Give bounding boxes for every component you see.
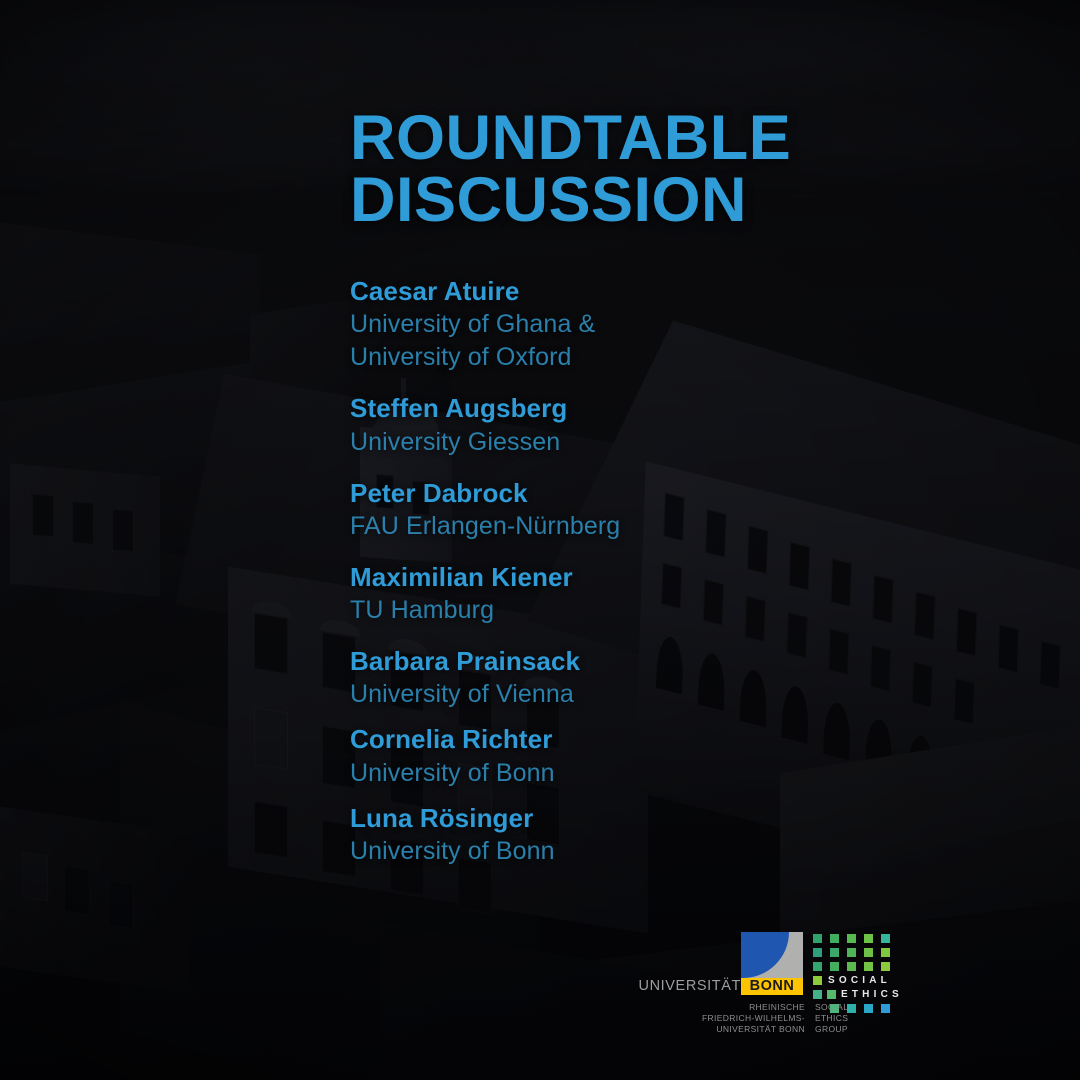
grid-cell — [847, 962, 856, 971]
title-line-1: ROUNDTABLE — [350, 103, 791, 173]
speaker-name: Barbara Prainsack — [350, 645, 990, 678]
speaker-name: Peter Dabrock — [350, 477, 990, 510]
social-ethics-caption-line-2: ETHICS — [815, 1013, 905, 1024]
grid-cell — [830, 948, 839, 957]
page-title: ROUNDTABLE DISCUSSION — [350, 108, 1050, 231]
speaker-affiliation: University of Ghana & — [350, 308, 990, 341]
list-item: Barbara Prainsack University of Vienna — [350, 645, 990, 711]
uni-bonn-shield-icon — [741, 932, 803, 978]
list-item: Caesar Atuire University of Ghana & Univ… — [350, 275, 990, 374]
social-ethics-word-1: SOCIAL — [828, 976, 891, 985]
uni-bonn-caption-line-1: RHEINISCHE — [641, 1002, 805, 1013]
social-ethics-logo: SOCIAL ETHICS — [813, 934, 905, 994]
uni-bonn-wordmark-box: BONN — [741, 978, 803, 995]
person-figure-icon — [847, 948, 856, 957]
speaker-name: Steffen Augsberg — [350, 392, 990, 425]
speaker-name: Caesar Atuire — [350, 275, 990, 308]
speaker-affiliation: University Giessen — [350, 426, 990, 459]
grid-cell — [813, 976, 822, 985]
social-ethics-word-2: ETHICS — [841, 990, 903, 999]
title-line-2: DISCUSSION — [350, 170, 1050, 232]
grid-cell — [881, 948, 890, 957]
uni-bonn-caption-line-2: FRIEDRICH-WILHELMS- — [641, 1013, 805, 1024]
poster-content: ROUNDTABLE DISCUSSION Caesar Atuire Univ… — [0, 0, 1080, 1080]
uni-bonn-wordmark-bonn: BONN — [741, 978, 803, 995]
person-figure-icon — [847, 934, 856, 943]
uni-bonn-caption: RHEINISCHE FRIEDRICH-WILHELMS- UNIVERSIT… — [641, 1002, 805, 1035]
grid-cell — [881, 934, 890, 943]
uni-bonn-logo: UNIVERSITÄT BONN RHEINISCHE FRIEDRICH-WI… — [645, 932, 805, 994]
uni-bonn-blue-quadrant — [741, 932, 789, 978]
grid-cell — [813, 962, 822, 971]
speaker-affiliation: University of Bonn — [350, 757, 990, 790]
speaker-name: Maximilian Kiener — [350, 561, 990, 594]
person-figure-icon — [830, 934, 839, 943]
speaker-name: Luna Rösinger — [350, 802, 990, 835]
grid-cell — [827, 990, 836, 999]
grid-cell — [830, 962, 839, 971]
grid-cell — [813, 990, 822, 999]
social-ethics-caption-line-1: SOCIAL — [815, 1002, 905, 1013]
grid-cell — [813, 948, 822, 957]
uni-bonn-wordmark-prefix: UNIVERSITÄT — [639, 978, 741, 995]
speaker-list: Caesar Atuire University of Ghana & Univ… — [350, 275, 990, 880]
person-figure-icon — [864, 948, 873, 957]
social-ethics-caption-line-3: GROUP — [815, 1024, 905, 1035]
person-figure-icon — [813, 934, 822, 943]
social-ethics-caption: SOCIAL ETHICS GROUP — [815, 1002, 905, 1035]
person-figure-icon — [881, 962, 890, 971]
speaker-affiliation: TU Hamburg — [350, 594, 990, 627]
list-item: Peter Dabrock FAU Erlangen-Nürnberg — [350, 477, 990, 543]
speaker-affiliation: FAU Erlangen-Nürnberg — [350, 510, 990, 543]
logo-bar: UNIVERSITÄT BONN RHEINISCHE FRIEDRICH-WI… — [645, 932, 905, 1052]
list-item: Maximilian Kiener TU Hamburg — [350, 561, 990, 627]
poster-canvas: ROUNDTABLE DISCUSSION Caesar Atuire Univ… — [0, 0, 1080, 1080]
speaker-affiliation: University of Bonn — [350, 835, 990, 868]
speaker-affiliation-2: University of Oxford — [350, 341, 990, 374]
speaker-affiliation: University of Vienna — [350, 678, 990, 711]
list-item: Cornelia Richter University of Bonn — [350, 723, 990, 789]
list-item: Luna Rösinger University of Bonn — [350, 802, 990, 868]
speaker-name: Cornelia Richter — [350, 723, 990, 756]
person-figure-icon — [864, 934, 873, 943]
list-item: Steffen Augsberg University Giessen — [350, 392, 990, 458]
person-figure-icon — [864, 962, 873, 971]
uni-bonn-caption-line-3: UNIVERSITÄT BONN — [641, 1024, 805, 1035]
